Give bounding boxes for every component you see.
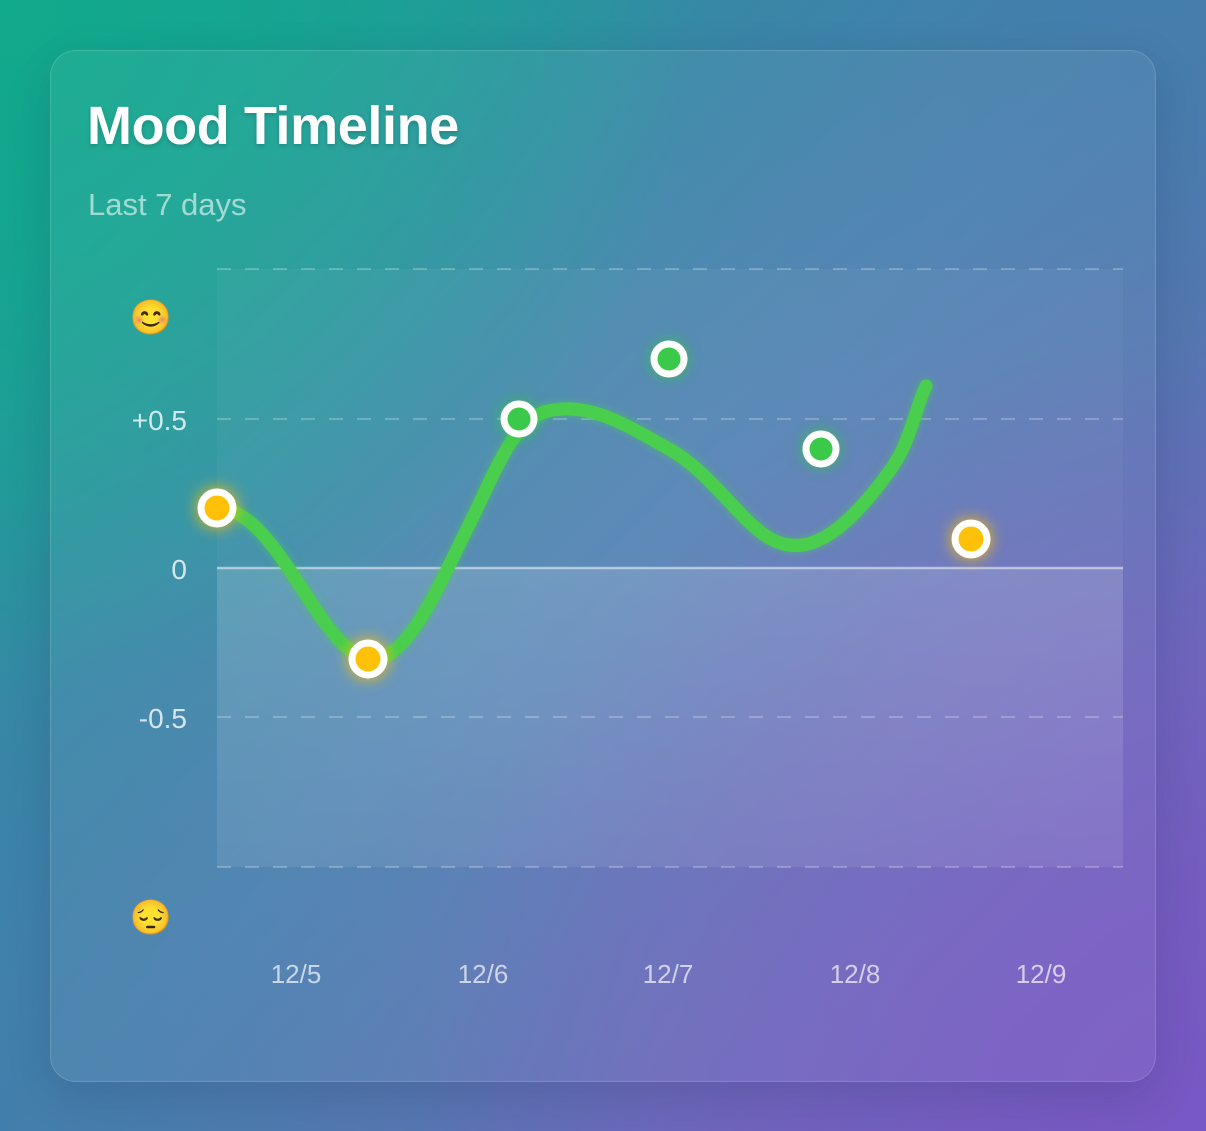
- x-axis-tick-12-5: 12/5: [236, 959, 356, 990]
- app-background: Mood Timeline Last 7 days: [0, 0, 1206, 1131]
- smiling-face-emoji: 😊: [126, 301, 176, 335]
- data-point-6[interactable]: [955, 523, 987, 555]
- data-point-4[interactable]: [654, 344, 684, 374]
- x-axis-tick-12-9: 12/9: [981, 959, 1101, 990]
- chart-canvas: [51, 51, 1156, 1082]
- data-point-5[interactable]: [806, 434, 836, 464]
- data-point-3[interactable]: [504, 404, 534, 434]
- mood-timeline-card: Mood Timeline Last 7 days: [50, 50, 1156, 1082]
- data-point-2[interactable]: [352, 643, 384, 675]
- x-axis-tick-12-6: 12/6: [423, 959, 543, 990]
- y-axis-tick-positive-half: +0.5: [67, 405, 187, 437]
- x-axis-tick-12-7: 12/7: [608, 959, 728, 990]
- y-axis-tick-negative-half: -0.5: [67, 703, 187, 735]
- mood-line-chart[interactable]: 😊 😔 +0.5 0 -0.5 12/5 12/6 12/7 12/8 12/9: [51, 51, 1156, 1082]
- pensive-face-emoji: 😔: [126, 901, 176, 935]
- x-axis-tick-12-8: 12/8: [795, 959, 915, 990]
- data-point-1[interactable]: [201, 492, 233, 524]
- y-axis-tick-zero: 0: [67, 554, 187, 586]
